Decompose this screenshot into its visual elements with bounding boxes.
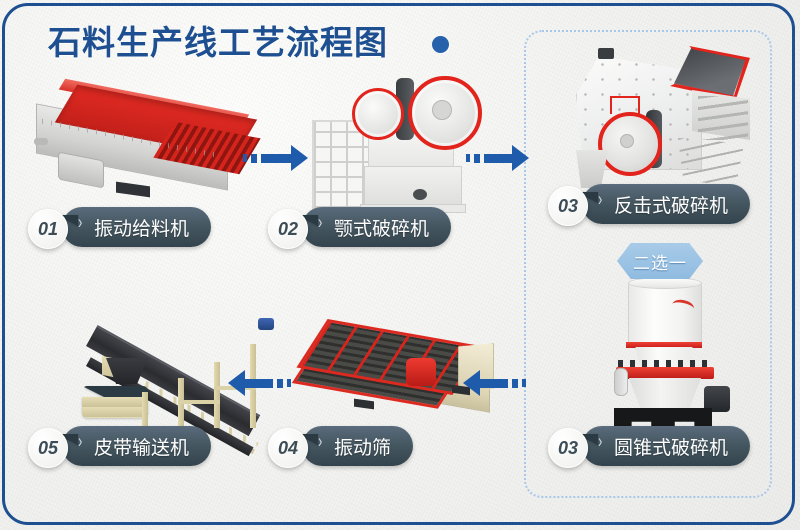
conveyor-leg [214,362,220,428]
feeder-mount [34,138,48,145]
screen-foot-front [354,399,374,410]
step-pill-02[interactable]: › 颚式破碎机 [302,207,451,247]
impact-right-leg [678,138,744,186]
step-label-text: 圆锥式破碎机 [614,433,728,460]
arrow-dot [474,154,480,163]
arrow-dot [287,379,291,387]
arrow-crusher-to-screen [463,370,526,396]
chevron-right-icon: › [318,210,322,233]
arrow-head [228,370,245,396]
flow-diagram-canvas: 石料生产线工艺流程图 [0,0,800,530]
arrow-jaw-to-crusher [466,145,529,171]
step-label-text: 颚式破碎机 [334,214,429,241]
two-choose-one-badge: 二选一 [617,243,703,279]
step-number-badge: 04 [268,428,308,468]
arrow-shaft [484,154,512,163]
machine-impact-crusher [570,46,770,186]
arrow-dot [243,154,247,162]
machine-vibrating-feeder [28,92,258,202]
step-number-badge: 03 [548,186,588,226]
step-pill-05[interactable]: › 皮带输送机 [62,426,211,466]
screen-exciter [406,358,436,386]
step-number-badge: 05 [28,428,68,468]
step-label-text: 皮带输送机 [94,433,189,460]
arrow-shaft [261,154,291,163]
machine-jaw-crusher [312,72,482,210]
arrow-head [512,145,529,171]
cone-accumulator [614,368,628,396]
page-title: 石料生产线工艺流程图 [48,16,388,64]
step-label-text: 反击式破碎机 [614,191,728,218]
impact-top-fitting [598,48,614,59]
impact-left-leg [576,150,608,188]
machine-belt-conveyor [82,300,292,430]
arrow-screen-to-conveyor [228,370,291,396]
step-pill-04[interactable]: › 振动筛 [302,426,413,466]
impact-discharge-ribs [698,96,748,140]
jaw-flywheel-small [352,88,404,140]
conveyor-head-pulley-cover [258,318,274,330]
chevron-right-icon: › [598,187,602,210]
arrow-dot [251,154,257,163]
machine-vibrating-screen [298,312,498,422]
arrow-shaft [245,379,273,388]
step-pill-03-impact[interactable]: › 反击式破碎机 [582,184,750,224]
cone-bowl-body [624,378,706,412]
arrow-dot [277,379,283,388]
title-dot-decoration [432,36,449,53]
arrow-head [291,145,308,171]
jaw-flywheel-hub [432,100,452,120]
step-pill-01[interactable]: › 振动给料机 [62,207,211,247]
arrow-dot [512,379,518,388]
arrow-head [463,370,480,396]
arrow-shaft [480,379,508,388]
step-pill-03-cone[interactable]: › 圆锥式破碎机 [582,426,750,466]
chevron-right-icon: › [318,429,322,452]
conveyor-tail-pulley [82,386,148,418]
step-number-badge: 01 [28,209,68,249]
machine-cone-crusher [600,282,760,438]
chevron-right-icon: › [78,210,82,233]
step-label-text: 振动筛 [334,433,391,460]
step-number-badge: 02 [268,209,308,249]
conveyor-brace [178,400,220,404]
step-number-badge: 03 [548,428,588,468]
arrow-feeder-to-jaw [243,145,308,171]
impact-flywheel [598,112,662,176]
arrow-dot [466,154,470,162]
feeder-base-foot [116,182,150,198]
chevron-right-icon: › [598,429,602,452]
cone-red-flange [616,367,714,379]
arrow-dot [522,379,526,387]
step-label-text: 振动给料机 [94,214,189,241]
conveyor-leg [142,392,148,428]
chevron-right-icon: › [78,429,82,452]
